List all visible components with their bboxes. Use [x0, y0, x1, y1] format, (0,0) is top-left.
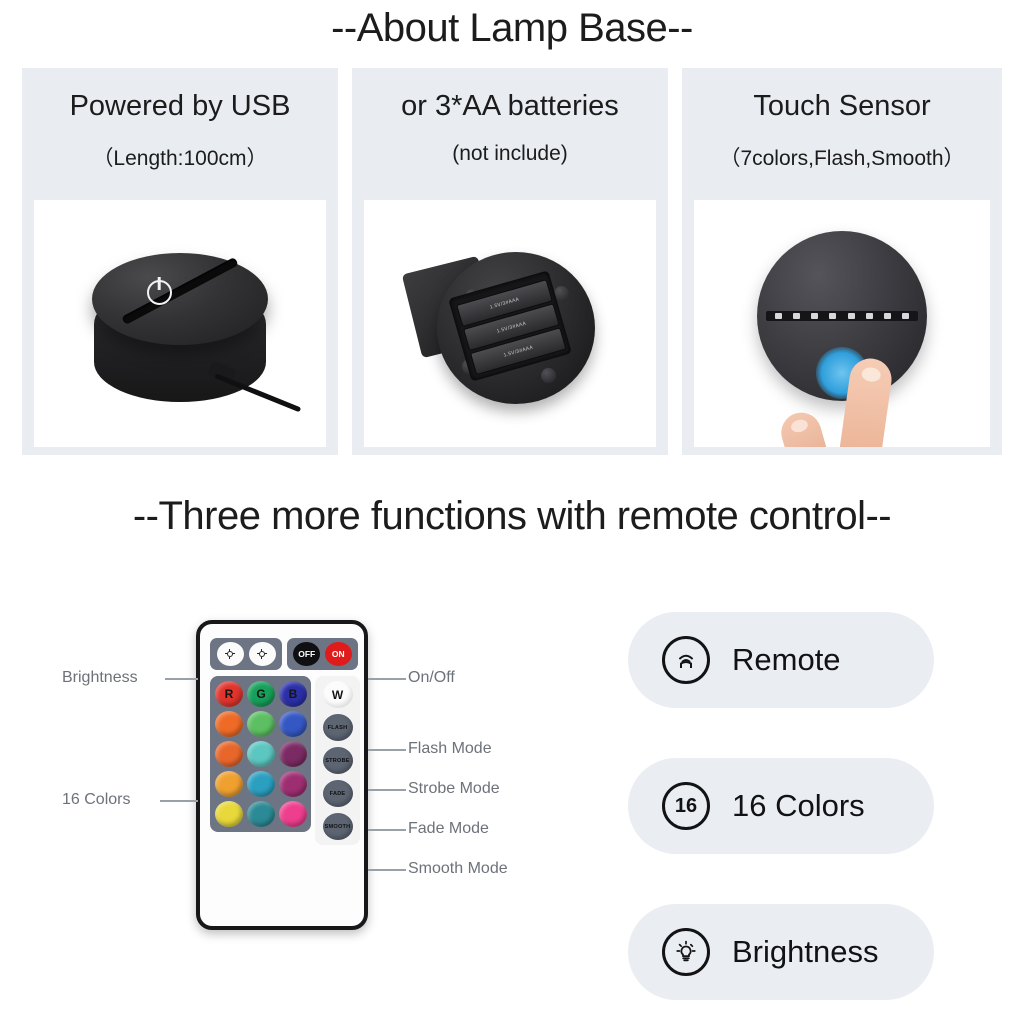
on-button[interactable]: ON: [325, 642, 352, 666]
panel-subtitle: （Length:100cm）: [22, 142, 338, 172]
color-button[interactable]: [215, 771, 243, 797]
feature-label: 16 Colors: [732, 788, 865, 824]
leader-line-smooth: [368, 869, 406, 871]
led-dot: [902, 313, 909, 319]
color-button-b[interactable]: B: [279, 681, 307, 707]
panel-aa-batteries: or 3*AA batteries (not include) 1.5V/3#A…: [352, 68, 668, 455]
color-button[interactable]: [247, 711, 275, 737]
color-button-r[interactable]: R: [215, 681, 243, 707]
battery-compartment-photo: 1.5V/3#AAA 1.5V/3#AAA 1.5V/3#AAA: [364, 200, 656, 447]
color-button[interactable]: [279, 711, 307, 737]
mode-buttons-column: WFLASHSTROBEFADESMOOTH: [315, 676, 360, 845]
fade-button[interactable]: FADE: [323, 780, 353, 807]
feature-pill-16-colors[interactable]: 16 16 Colors: [628, 758, 934, 854]
power-icon: [147, 280, 172, 305]
flash-button[interactable]: FLASH: [323, 714, 353, 741]
panel-touch-sensor: Touch Sensor （7colors,Flash,Smooth）: [682, 68, 1002, 455]
brightness-down-button[interactable]: [249, 642, 276, 666]
callout-smooth-mode: Smooth Mode: [408, 860, 508, 878]
white-color-button[interactable]: W: [323, 681, 353, 708]
callout-on-off: On/Off: [408, 669, 455, 687]
feature-pill-remote[interactable]: Remote: [628, 612, 934, 708]
leader-line-strobe: [368, 789, 406, 791]
callout-flash-mode: Flash Mode: [408, 740, 492, 758]
panel-title: Touch Sensor: [682, 90, 1002, 123]
infographic-page: --About Lamp Base-- Powered by USB （Leng…: [0, 0, 1024, 1024]
color-button[interactable]: [215, 741, 243, 767]
led-dot: [848, 313, 855, 319]
color-button-g[interactable]: G: [247, 681, 275, 707]
color-button[interactable]: [279, 771, 307, 797]
hand-thumb: [776, 408, 835, 447]
brightness-up-button[interactable]: [217, 642, 244, 666]
callout-strobe-mode: Strobe Mode: [408, 780, 500, 798]
lamp-base-slot: [121, 257, 238, 325]
color-button[interactable]: [247, 741, 275, 767]
leader-line-fade: [368, 829, 406, 831]
power-buttons: OFF ON: [287, 638, 358, 670]
smooth-button[interactable]: SMOOTH: [323, 813, 353, 840]
led-dot: [866, 313, 873, 319]
color-button[interactable]: [215, 801, 243, 827]
panel-subtitle: (not include): [352, 142, 668, 166]
brightness-down-icon: [257, 649, 268, 660]
led-dot: [884, 313, 891, 319]
color-button[interactable]: [215, 711, 243, 737]
off-button[interactable]: OFF: [293, 642, 320, 666]
brightness-buttons: [210, 638, 282, 670]
battery-slot-label: 1.5V/3#AAA: [503, 344, 534, 358]
led-dot: [775, 313, 782, 319]
remote-control[interactable]: OFF ON RGB WFLASHSTROBEFADESMOOTH: [196, 620, 368, 930]
remote-signal-icon: [662, 636, 710, 684]
feature-label: Remote: [732, 642, 841, 678]
feature-label: Brightness: [732, 934, 878, 970]
leader-line-brightness: [165, 678, 198, 680]
touch-sensor-photo: [694, 200, 990, 447]
color-grid: RGB: [210, 676, 311, 832]
lamp-base-top: [92, 253, 268, 345]
color-button[interactable]: [279, 801, 307, 827]
feature-pill-brightness[interactable]: Brightness: [628, 904, 934, 1000]
battery-slot-label: 1.5V/3#AAA: [496, 320, 527, 334]
panel-title: Powered by USB: [22, 90, 338, 123]
page-title-about: --About Lamp Base--: [0, 6, 1024, 51]
led-dot: [793, 313, 800, 319]
color-button[interactable]: [247, 771, 275, 797]
color-button[interactable]: [279, 741, 307, 767]
callout-16-colors: 16 Colors: [62, 791, 130, 809]
lamp-base-usb-photo: [34, 200, 326, 447]
leader-line-onoff: [368, 678, 406, 680]
panel-subtitle: （7colors,Flash,Smooth）: [682, 142, 1002, 172]
sixteen-badge-text: 16: [675, 795, 697, 818]
sixteen-circle-icon: 16: [662, 782, 710, 830]
led-dot: [829, 313, 836, 319]
callout-fade-mode: Fade Mode: [408, 820, 489, 838]
page-title-functions: --Three more functions with remote contr…: [0, 494, 1024, 539]
leader-line-flash: [368, 749, 406, 751]
brightness-up-icon: [225, 649, 236, 660]
remote-top-row: OFF ON: [210, 638, 358, 670]
panel-title: or 3*AA batteries: [352, 90, 668, 123]
callout-brightness: Brightness: [62, 669, 138, 687]
lightbulb-icon: [662, 928, 710, 976]
battery-slot-label: 1.5V/3#AAA: [489, 296, 520, 310]
color-button[interactable]: [247, 801, 275, 827]
strobe-button[interactable]: STROBE: [323, 747, 353, 774]
led-strip: [766, 311, 918, 321]
led-dot: [811, 313, 818, 319]
panel-powered-by-usb: Powered by USB （Length:100cm）: [22, 68, 338, 455]
screw-dot: [541, 368, 556, 383]
leader-line-16-colors: [160, 800, 198, 802]
